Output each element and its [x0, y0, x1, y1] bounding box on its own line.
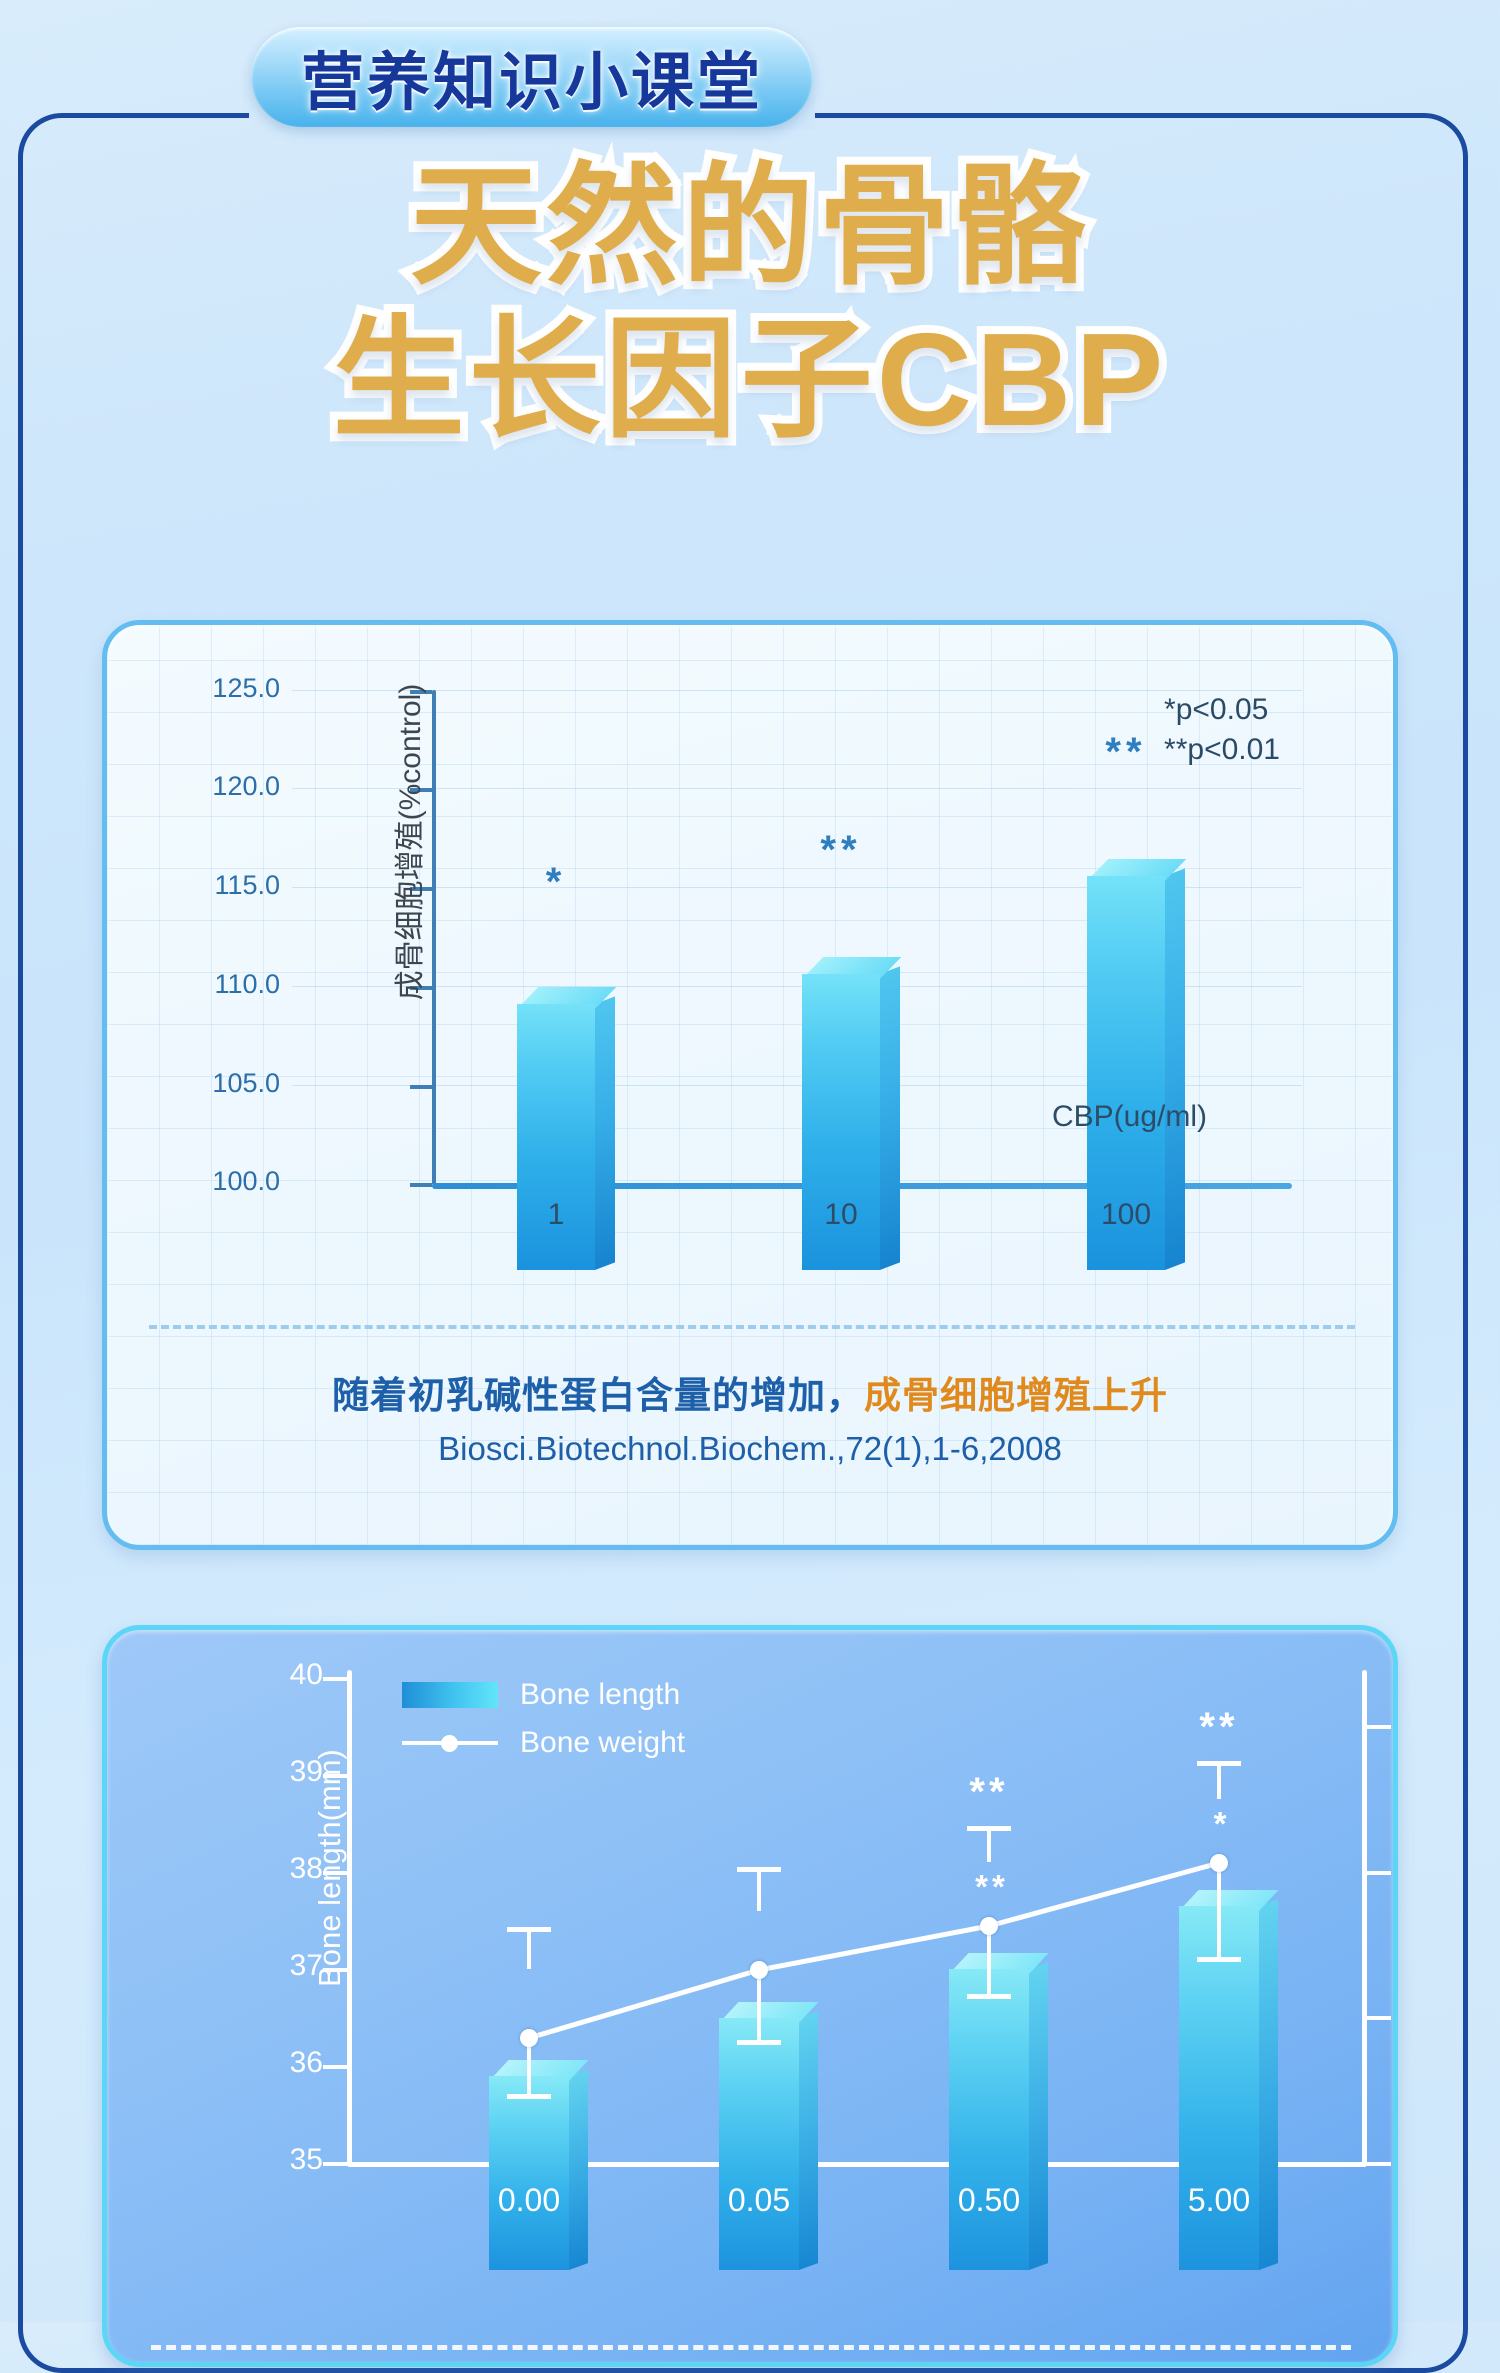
chart-caption: 随着初乳碱性蛋白含量的增加，成骨细胞增殖上升	[107, 1365, 1393, 1419]
right-y-axis-tick	[1367, 2162, 1391, 2166]
significance-legend: *p<0.05 **p<0.01	[1164, 690, 1280, 769]
y-axis-line	[432, 690, 436, 1185]
osteoblast-chart: 125.0 120.0 115.0 110.0 105.0 100.0 成骨细胞…	[292, 670, 1302, 1270]
line-significance-marker-3: **	[922, 1868, 1062, 1906]
bone-growth-chart-card: 40 39 38 37 36 35 1.0 0.9 0.8 0.7 Bone l…	[102, 1625, 1398, 2367]
left-y-tick-label: 36	[163, 2046, 323, 2080]
y-axis-tick-label: 105.0	[102, 1068, 280, 1099]
line-point-3	[980, 1917, 998, 1935]
page-title-line-1: 天然的骨骼	[0, 150, 1500, 303]
right-y-axis-tick	[1367, 1871, 1391, 1875]
x-axis-label-1: 0.00	[449, 2182, 609, 2219]
bar-significance-marker-3: **	[919, 1770, 1059, 1815]
line-point-2	[750, 1961, 768, 1979]
x-axis-label-2: 10	[781, 1198, 901, 1232]
y-axis-title: 成骨细胞增殖(%control)	[385, 632, 429, 1052]
left-y-tick-label: 37	[163, 1949, 323, 1983]
left-y-axis-title: Bone length(mm)	[312, 1673, 348, 2063]
line-point-4	[1210, 1854, 1228, 1872]
page-title: 天然的骨骼 生长因子CBP	[0, 150, 1500, 456]
right-y-axis-tick	[1367, 1725, 1391, 1729]
chart-citation: Biosci.Biotechnol.Biochem.,72(1),1-6,200…	[107, 1430, 1393, 1468]
line-path	[529, 1863, 1219, 2038]
y-axis-tick	[410, 1085, 432, 1089]
left-y-axis-tick	[323, 2065, 347, 2069]
x-axis-title: CBP(ug/ml)	[1052, 1100, 1207, 1134]
x-axis-label-3: 100	[1066, 1198, 1186, 1232]
left-y-tick-label: 35	[163, 2143, 323, 2177]
x-axis-label-2: 0.05	[679, 2182, 839, 2219]
significance-marker-1: *	[496, 860, 616, 905]
significance-marker-2: **	[781, 828, 901, 873]
chart-caption-part-1: 随着初乳碱性蛋白含量的增加，	[332, 1375, 864, 1416]
left-y-tick-label: 38	[163, 1852, 323, 1886]
card-divider	[149, 1325, 1355, 1329]
gridline	[292, 690, 1302, 691]
x-axis-label-3: 0.50	[909, 2182, 1069, 2219]
bone-weight-line-series	[347, 1670, 1367, 2270]
x-axis-label-1: 1	[496, 1198, 616, 1232]
page-title-line-2: 生长因子CBP	[0, 303, 1500, 456]
p-value-note-1: *p<0.05	[1164, 690, 1280, 730]
y-axis-tick-label: 115.0	[102, 870, 280, 901]
line-point-1	[520, 2029, 538, 2047]
card-divider	[151, 2345, 1351, 2350]
line-significance-marker-4: *	[1152, 1805, 1292, 1843]
p-value-note-2: **p<0.01	[1164, 730, 1280, 770]
chart-caption-highlight: 成骨细胞增殖上升	[864, 1375, 1168, 1416]
bar-significance-marker-4: **	[1149, 1705, 1289, 1750]
left-y-axis-tick	[323, 2162, 347, 2166]
y-axis-tick-label: 110.0	[102, 969, 280, 1000]
y-axis-tick-label: 125.0	[102, 673, 280, 704]
right-y-axis-tick	[1367, 2016, 1391, 2020]
y-axis-tick	[410, 1183, 432, 1187]
left-y-tick-label: 40	[163, 1658, 323, 1692]
osteoblast-chart-card: 125.0 120.0 115.0 110.0 105.0 100.0 成骨细胞…	[102, 620, 1398, 1550]
y-axis-tick-label: 120.0	[102, 771, 280, 802]
left-y-tick-label: 39	[163, 1755, 323, 1789]
gridline	[292, 788, 1302, 789]
x-axis-label-4: 5.00	[1139, 2182, 1299, 2219]
header-badge-label: 营养知识小课堂	[301, 32, 763, 123]
header-badge: 营养知识小课堂	[251, 27, 813, 127]
y-axis-tick-label: 100.0	[102, 1166, 280, 1197]
bone-growth-chart: 40 39 38 37 36 35 1.0 0.9 0.8 0.7 Bone l…	[347, 1670, 1367, 2270]
